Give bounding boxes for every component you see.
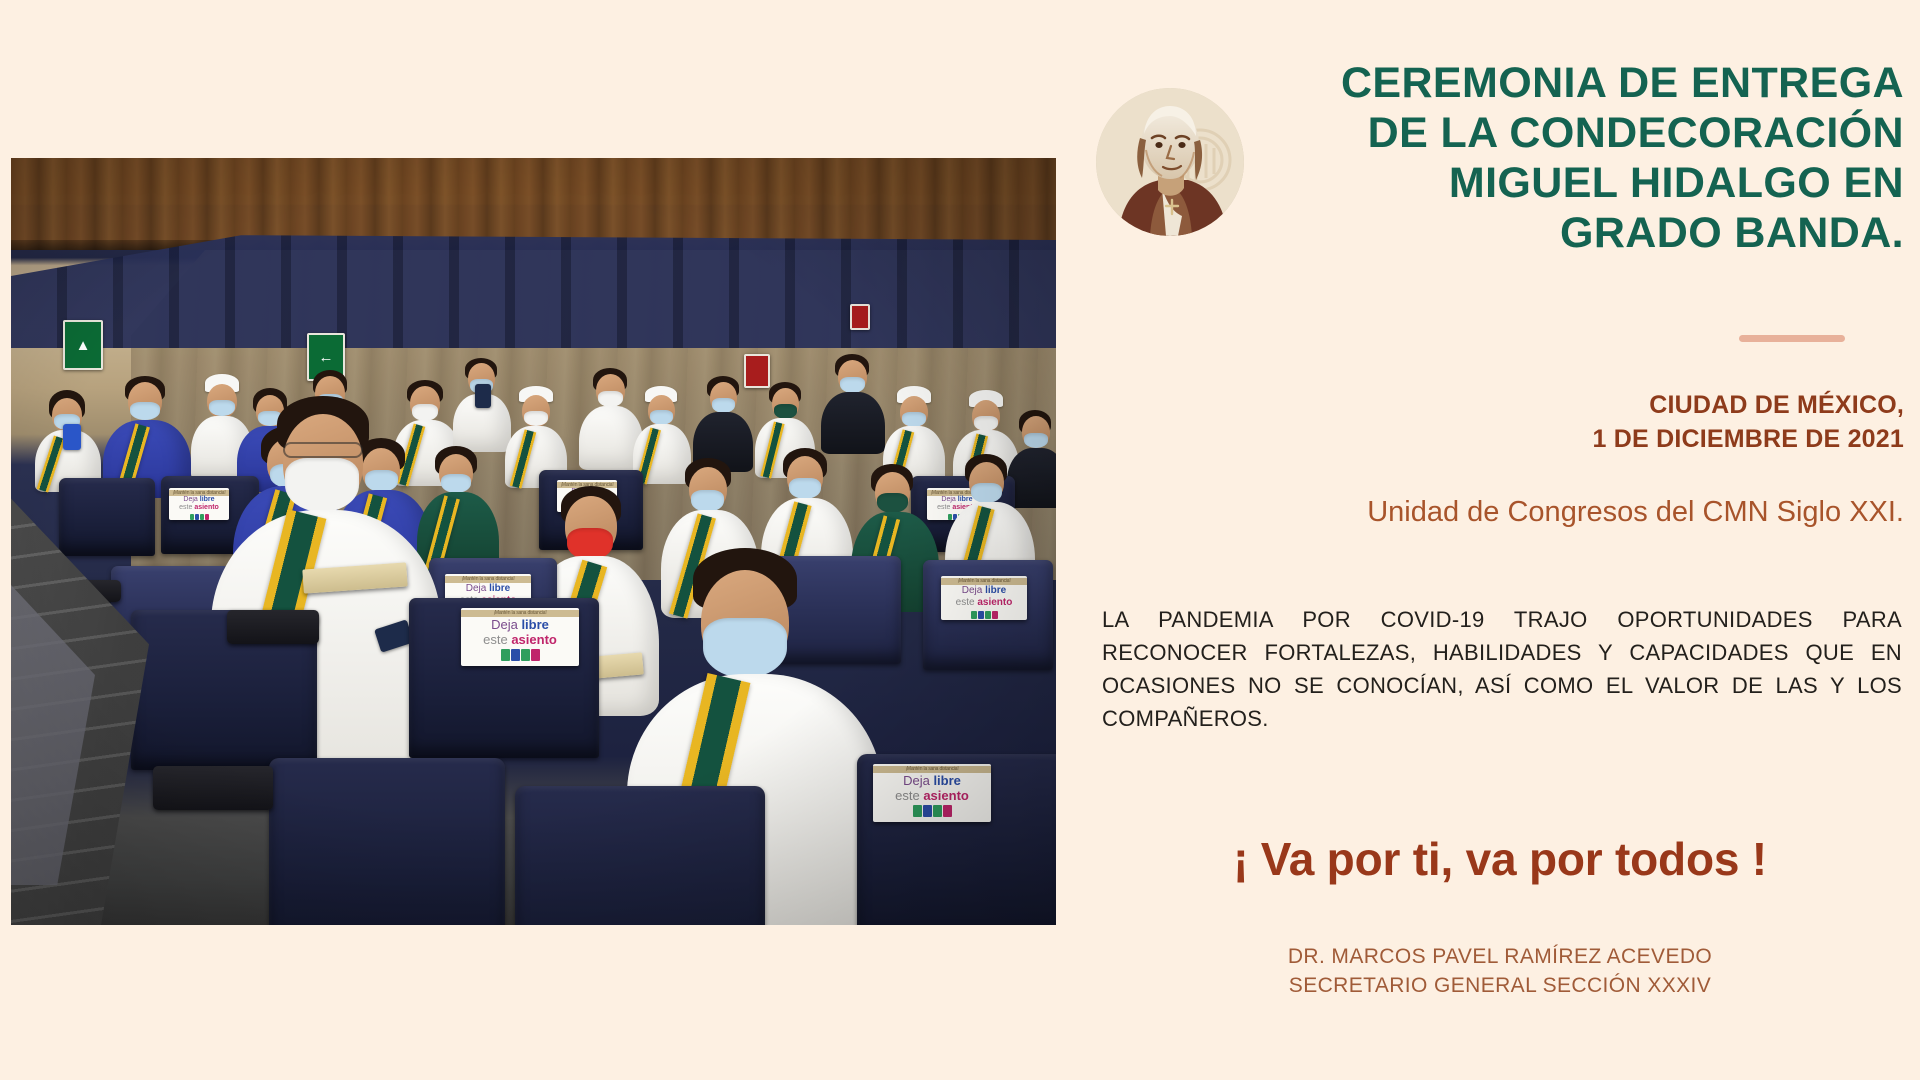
event-city: CIUDAD DE MÉXICO, [1080, 388, 1904, 422]
section-divider [1739, 335, 1845, 342]
event-venue: Unidad de Congresos del CMN Siglo XXI. [1080, 494, 1920, 530]
seat-distancing-placard: ¡Mantén la sana distancia! Deja libre es… [461, 608, 579, 666]
placard-line-1: Deja libre [903, 773, 961, 788]
placard-line-2: este asiento [895, 788, 969, 803]
placard-people-icons [971, 611, 998, 619]
text-column: CEREMONIA DE ENTREGA DE LA CONDECORACIÓN… [1080, 0, 1920, 1080]
auditorium-scene: ▲ ← [11, 158, 1056, 925]
signature-name: DR. MARCOS PAVEL RAMÍREZ ACEVEDO [1080, 942, 1920, 971]
placard-people-icons [190, 514, 209, 520]
placard-top-line: ¡Mantén la sana distancia! [941, 578, 1027, 585]
event-place-date: CIUDAD DE MÉXICO, 1 DE DICIEMBRE DE 2021 [1080, 388, 1920, 456]
placard-top-line: ¡Mantén la sana distancia! [873, 766, 991, 773]
seat-distancing-placard: ¡Mantén la sana distancia! Deja libre es… [169, 488, 229, 520]
eyeglasses-icon [283, 442, 363, 458]
page-title: CEREMONIA DE ENTREGA DE LA CONDECORACIÓN… [1080, 58, 1920, 258]
placard-top-line: ¡Mantén la sana distancia! [445, 576, 531, 583]
body-paragraph: LA PANDEMIA POR COVID-19 TRAJO OPORTUNID… [1102, 603, 1902, 735]
placard-people-icons [501, 649, 540, 661]
placard-people-icons [913, 805, 952, 817]
title-line-1: CEREMONIA DE ENTREGA [1080, 58, 1904, 108]
seat-distancing-placard: ¡Mantén la sana distancia! Deja libre es… [873, 764, 991, 822]
slogan: ¡ Va por ti, va por todos ! [1080, 832, 1920, 886]
title-line-4: GRADO BANDA. [1080, 208, 1904, 258]
poster-canvas: ▲ ← [0, 0, 1920, 1080]
placard-line-1: Deja libre [491, 617, 549, 632]
placard-line-1: Deja libre [962, 585, 1006, 597]
wood-panel-wall [11, 158, 1056, 250]
seat-armrest [153, 766, 273, 810]
placard-line-1: Deja libre [941, 496, 972, 504]
placard-line-2: este asiento [956, 597, 1013, 609]
seat-armrest [227, 610, 319, 644]
signature-block: DR. MARCOS PAVEL RAMÍREZ ACEVEDO SECRETA… [1080, 942, 1920, 1000]
placard-line-2: este asiento [179, 504, 219, 512]
emergency-exit-sign-icon: ▲ [63, 320, 103, 370]
event-date: 1 DE DICIEMBRE DE 2021 [1080, 422, 1904, 456]
event-photo: ▲ ← [11, 158, 1056, 925]
fire-extinguisher-sign-icon [744, 354, 770, 388]
theatre-seat [59, 478, 155, 556]
placard-top-line: ¡Mantén la sana distancia! [461, 610, 579, 617]
signature-role: SECRETARIO GENERAL SECCIÓN XXXIV [1080, 971, 1920, 1000]
placard-line-1: Deja libre [183, 496, 214, 504]
theatre-seat-front [515, 786, 765, 925]
placard-line-1: Deja libre [466, 583, 510, 595]
title-line-2: DE LA CONDECORACIÓN [1080, 108, 1904, 158]
alarm-sign-icon [850, 304, 870, 330]
placard-line-2: este asiento [483, 632, 557, 647]
theatre-seat-front [269, 758, 505, 925]
seat-distancing-placard: ¡Mantén la sana distancia! Deja libre es… [941, 576, 1027, 620]
title-line-3: MIGUEL HIDALGO EN [1080, 158, 1904, 208]
